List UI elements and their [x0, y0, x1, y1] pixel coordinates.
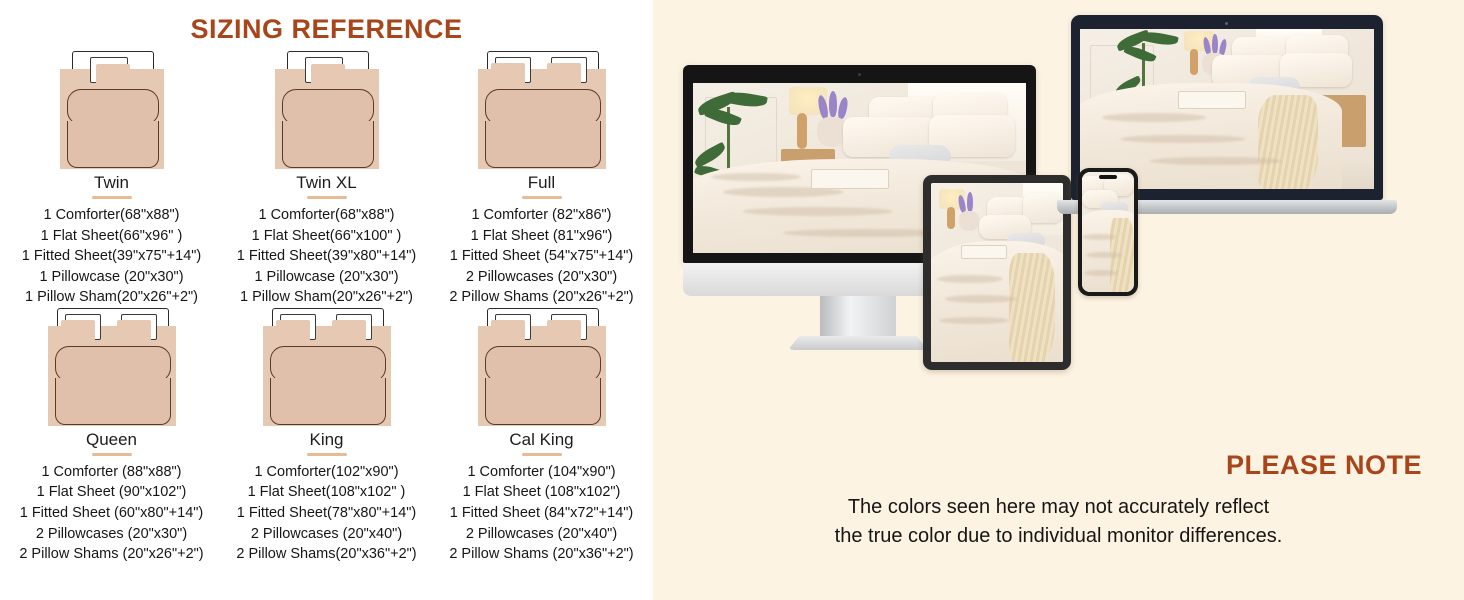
size-spec-line: 2 Pillowcases (20"x30")	[449, 267, 633, 288]
size-spec-line: 1 Comforter (104"x90")	[449, 462, 633, 483]
size-spec-list: 1 Comforter (82"x86")1 Flat Sheet (81"x9…	[449, 205, 633, 308]
note-line-1: The colors seen here may not accurately …	[683, 493, 1434, 522]
left-panel-sizing: SIZING REFERENCE Twin1 Comforter(68"x88"…	[0, 0, 653, 600]
bed-pillow-fill	[547, 320, 581, 342]
size-name-underline	[522, 453, 562, 456]
bed-duvet-fold	[67, 89, 159, 125]
bed-pillow-fill	[311, 64, 345, 87]
size-spec-list: 1 Comforter(102"x90")1 Flat Sheet(108"x1…	[236, 462, 416, 565]
size-name-label: King	[309, 430, 343, 450]
bed-illustration	[478, 51, 606, 169]
bed-illustration	[60, 51, 164, 169]
size-cell-king: King1 Comforter(102"x90")1 Flat Sheet(10…	[219, 308, 434, 565]
size-spec-line: 2 Pillowcases (20"x40")	[449, 524, 633, 545]
phone-dynamic-island	[1099, 175, 1117, 179]
bed-pillow-fill	[61, 320, 95, 342]
size-spec-line: 1 Fitted Sheet(39"x80"+14")	[237, 246, 416, 267]
bed-duvet-fold	[485, 89, 601, 125]
note-title: PLEASE NOTE	[653, 450, 1464, 481]
monitor-stand-foot	[788, 336, 928, 350]
note-body: The colors seen here may not accurately …	[653, 493, 1464, 551]
bed-pillow-fill	[547, 63, 581, 85]
bed-pillow-fill	[491, 320, 525, 342]
size-spec-line: 1 Fitted Sheet(39"x75"+14")	[22, 246, 201, 267]
size-spec-line: 1 Flat Sheet(66"x100" )	[237, 226, 416, 247]
size-spec-list: 1 Comforter (88"x88")1 Flat Sheet (90"x1…	[19, 462, 203, 565]
laptop-screen-image	[1080, 29, 1374, 189]
bed-duvet-body	[270, 378, 386, 425]
size-spec-line: 1 Pillowcase (20"x30")	[22, 267, 201, 288]
bed-duvet-body	[55, 378, 171, 425]
tablet-screen-image	[931, 183, 1063, 362]
bed-duvet-fold	[282, 89, 374, 125]
bed-duvet-body	[485, 378, 601, 425]
size-spec-line: 1 Flat Sheet(108"x102" )	[236, 482, 416, 503]
bed-illustration	[275, 51, 379, 169]
bed-duvet-body	[282, 121, 374, 168]
size-spec-line: 1 Pillow Sham(20"x26"+2")	[22, 287, 201, 308]
size-spec-line: 2 Pillowcases (20"x30")	[19, 524, 203, 545]
size-spec-line: 1 Flat Sheet (108"x102")	[449, 482, 633, 503]
size-spec-line: 1 Fitted Sheet (60"x80"+14")	[19, 503, 203, 524]
size-cell-cal-king: Cal King1 Comforter (104"x90")1 Flat She…	[434, 308, 649, 565]
size-cell-full: Full1 Comforter (82"x86")1 Flat Sheet (8…	[434, 51, 649, 308]
bed-duvet-fold	[485, 346, 601, 382]
size-spec-line: 2 Pillow Shams (20"x26"+2")	[449, 287, 633, 308]
size-spec-list: 1 Comforter(68"x88")1 Flat Sheet(66"x100…	[237, 205, 416, 308]
size-cell-twin-xl: Twin XL1 Comforter(68"x88")1 Flat Sheet(…	[219, 51, 434, 308]
size-spec-line: 1 Pillow Sham(20"x26"+2")	[237, 287, 416, 308]
size-cell-queen: Queen1 Comforter (88"x88")1 Flat Sheet (…	[4, 308, 219, 565]
sizing-reference-infographic: SIZING REFERENCE Twin1 Comforter(68"x88"…	[0, 0, 1464, 600]
bed-pillow-fill	[117, 320, 151, 342]
size-name-underline	[92, 453, 132, 456]
please-note-block: PLEASE NOTE The colors seen here may not…	[653, 450, 1464, 551]
bed-illustration	[48, 308, 176, 426]
size-name-label: Queen	[86, 430, 137, 450]
size-spec-line: 1 Pillowcase (20"x30")	[237, 267, 416, 288]
size-name-label: Twin	[94, 173, 129, 193]
bed-illustration	[263, 308, 391, 426]
size-spec-line: 1 Comforter(68"x88")	[237, 205, 416, 226]
right-panel-devices: PLEASE NOTE The colors seen here may not…	[653, 0, 1464, 600]
size-name-underline	[307, 196, 347, 199]
phone-frame	[1078, 168, 1138, 296]
bed-duvet-body	[485, 121, 601, 168]
size-spec-line: 2 Pillow Shams (20"x36"+2")	[449, 544, 633, 565]
size-spec-list: 1 Comforter(68"x88")1 Flat Sheet(66"x96"…	[22, 205, 201, 308]
size-spec-line: 2 Pillow Shams(20"x36"+2")	[236, 544, 416, 565]
size-spec-line: 1 Flat Sheet (81"x96")	[449, 226, 633, 247]
size-name-underline	[92, 196, 132, 199]
size-spec-line: 1 Fitted Sheet (54"x75"+14")	[449, 246, 633, 267]
note-line-2: the true color due to individual monitor…	[683, 522, 1434, 551]
size-spec-line: 1 Comforter (88"x88")	[19, 462, 203, 483]
bed-pillow-fill	[276, 320, 310, 342]
tablet-frame	[923, 175, 1071, 370]
size-name-label: Cal King	[509, 430, 573, 450]
bed-duvet-fold	[55, 346, 171, 382]
size-name-underline	[522, 196, 562, 199]
size-spec-line: 2 Pillowcases (20"x40")	[236, 524, 416, 545]
bed-illustration	[478, 308, 606, 426]
phone-screen-image	[1082, 172, 1134, 292]
bed-duvet-fold	[270, 346, 386, 382]
size-spec-line: 2 Pillow Shams (20"x26"+2")	[19, 544, 203, 565]
bed-pillow-fill	[491, 63, 525, 85]
bed-pillow-fill	[96, 64, 130, 87]
size-spec-line: 1 Fitted Sheet(78"x80"+14")	[236, 503, 416, 524]
size-cell-twin: Twin1 Comforter(68"x88")1 Flat Sheet(66"…	[4, 51, 219, 308]
size-spec-list: 1 Comforter (104"x90")1 Flat Sheet (108"…	[449, 462, 633, 565]
size-spec-line: 1 Comforter(68"x88")	[22, 205, 201, 226]
size-name-underline	[307, 453, 347, 456]
bed-duvet-body	[67, 121, 159, 168]
page-title: SIZING REFERENCE	[0, 14, 653, 45]
monitor-camera-icon	[858, 73, 861, 76]
size-grid: Twin1 Comforter(68"x88")1 Flat Sheet(66"…	[0, 51, 653, 565]
size-spec-line: 1 Comforter (82"x86")	[449, 205, 633, 226]
laptop-camera-icon	[1225, 22, 1228, 25]
size-spec-line: 1 Flat Sheet (90"x102")	[19, 482, 203, 503]
size-spec-line: 1 Comforter(102"x90")	[236, 462, 416, 483]
size-spec-line: 1 Flat Sheet(66"x96" )	[22, 226, 201, 247]
size-name-label: Twin XL	[296, 173, 356, 193]
bed-pillow-fill	[332, 320, 366, 342]
size-name-label: Full	[528, 173, 555, 193]
size-spec-line: 1 Fitted Sheet (84"x72"+14")	[449, 503, 633, 524]
